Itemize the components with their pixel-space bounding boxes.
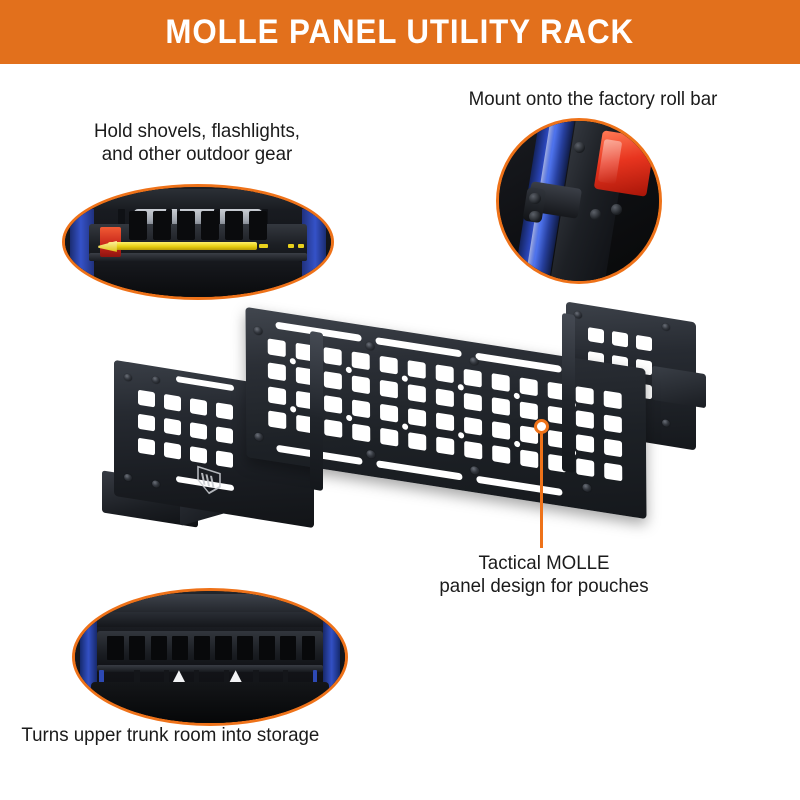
molle-leader-anchor-dot [534, 419, 549, 434]
panel-crossbar-right [562, 313, 575, 473]
trunk-storage-inset [72, 588, 348, 726]
roll-bar-mount-photo [499, 121, 659, 281]
panel-crossbar-left [310, 331, 323, 491]
rack-with-tools-inset [62, 184, 334, 300]
product-image [96, 318, 706, 548]
page-title: MOLLE PANEL UTILITY RACK [166, 15, 635, 49]
roll-bar-mount-inset [496, 118, 662, 284]
rack-with-tools-photo [65, 187, 331, 297]
callout-tactical-molle: Tactical MOLLE panel design for pouches [392, 552, 695, 599]
shield-logo-icon [196, 463, 222, 499]
infographic-root: MOLLE PANEL UTILITY RACK Hold shovels, f… [0, 0, 800, 800]
callout-roll-bar: Mount onto the factory roll bar [412, 88, 775, 111]
callout-trunk-storage: Turns upper trunk room into storage [21, 724, 472, 747]
callout-hold-gear: Hold shovels, flashlights, and other out… [44, 120, 349, 167]
product-render [96, 318, 706, 548]
molle-leader-line [540, 426, 543, 548]
header-banner: MOLLE PANEL UTILITY RACK [0, 0, 800, 64]
trunk-storage-photo [75, 591, 345, 723]
